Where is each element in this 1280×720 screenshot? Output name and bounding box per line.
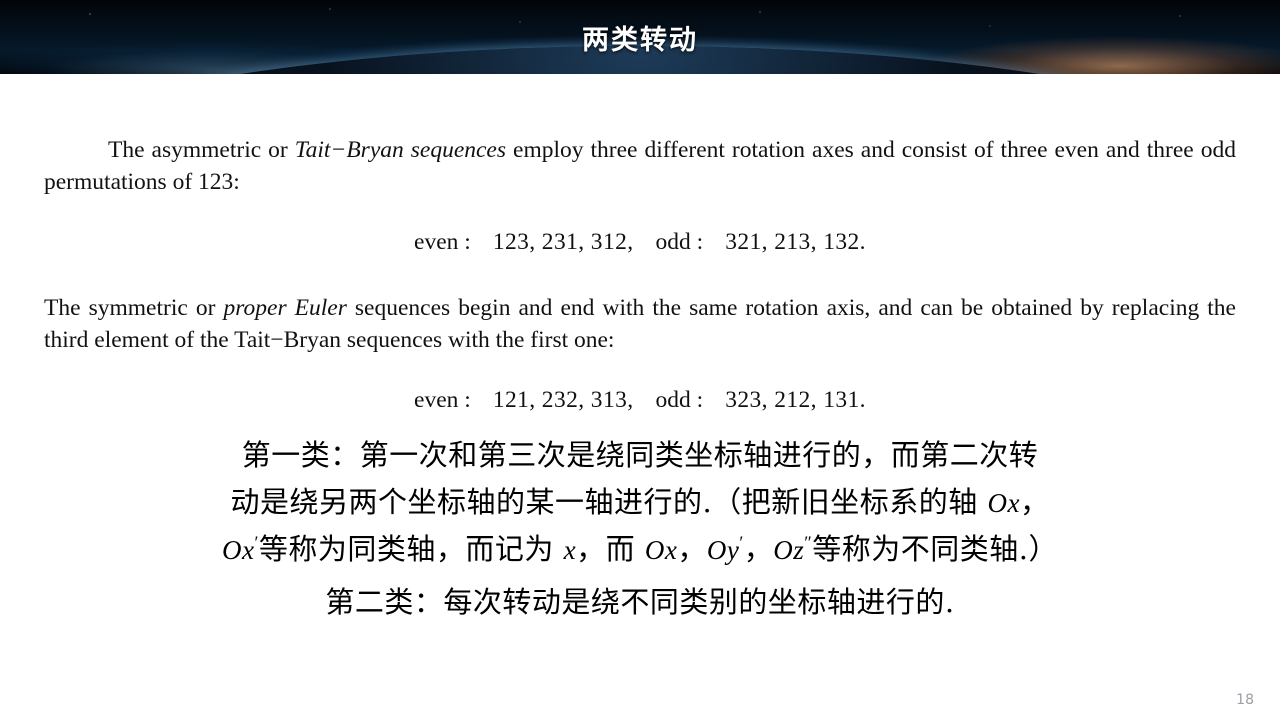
page-number: 18 (1236, 692, 1254, 708)
paragraph-asymmetric: The asymmetric or Tait−Bryan sequences e… (44, 134, 1236, 199)
chinese-line3-math-oy: Oy (707, 535, 739, 565)
paragraph1-part1: The asymmetric or (108, 137, 295, 163)
chinese-line-1: 第一类：第一次和第三次是绕同类坐标轴进行的，而第二次转 (0, 432, 1280, 479)
paragraph1-italic-term: Tait−Bryan sequences (295, 137, 506, 163)
slide-header: 两类转动 (0, 0, 1280, 74)
paragraph2-italic-term: proper Euler (223, 295, 346, 321)
prime-icon-2: ′ (739, 532, 743, 552)
slide-body: The asymmetric or Tait−Bryan sequences e… (0, 74, 1280, 720)
chinese-line4-text: 第二类：每次转动是绕不同类别的坐标轴进行的. (325, 585, 954, 619)
chinese-line3-math-x: x (564, 535, 576, 565)
formula2-even-values: 121, 232, 313, (493, 387, 634, 413)
formula1-even-label: even : (414, 229, 471, 255)
formula1-even-values: 123, 231, 312, (493, 229, 634, 255)
formula2-odd-values: 323, 212, 131. (725, 387, 866, 413)
paragraph2-part1: The symmetric or (44, 295, 223, 321)
formula1-odd-label: odd : (656, 229, 704, 255)
chinese-line-4: 第二类：每次转动是绕不同类别的坐标轴进行的. (0, 579, 1280, 626)
formula2-odd-label: odd : (656, 387, 704, 413)
chinese-explanation-block: 第一类：第一次和第三次是绕同类坐标轴进行的，而第二次转 动是绕另两个坐标轴的某一… (0, 432, 1280, 626)
chinese-line3-text-c: 等称为不同类轴.） (812, 532, 1058, 566)
formula1-odd-values: 321, 213, 132. (725, 229, 866, 255)
chinese-line2-math-ox: Ox (987, 488, 1019, 518)
chinese-line2-text-b: ， (1020, 485, 1050, 519)
chinese-line3-text-a: 等称为同类轴，而记为 (259, 532, 564, 566)
chinese-line3-text-b: ，而 (576, 532, 645, 566)
chinese-line-3: Ox′等称为同类轴，而记为 x，而 Ox，Oy′，Oz″等称为不同类轴.） (0, 526, 1280, 573)
formula2-even-label: even : (414, 387, 471, 413)
formula-tait-bryan: even :123, 231, 312,odd :321, 213, 132. (0, 229, 1280, 256)
chinese-line3-math-oz: Oz (773, 535, 804, 565)
chinese-line3-math-ox-prime: Ox (222, 535, 254, 565)
chinese-line3-math-ox: Ox (645, 535, 677, 565)
chinese-line1-text: 第一类：第一次和第三次是绕同类坐标轴进行的，而第二次转 (242, 438, 1039, 472)
slide-title: 两类转动 (0, 18, 1280, 57)
formula-proper-euler: even :121, 232, 313,odd :323, 212, 131. (0, 387, 1280, 414)
chinese-line2-text-a: 动是绕另两个坐标轴的某一轴进行的.（把新旧坐标系的轴 (231, 485, 988, 519)
chinese-line-2: 动是绕另两个坐标轴的某一轴进行的.（把新旧坐标系的轴 Ox， (0, 479, 1280, 526)
paragraph-symmetric: The symmetric or proper Euler sequences … (44, 292, 1236, 357)
